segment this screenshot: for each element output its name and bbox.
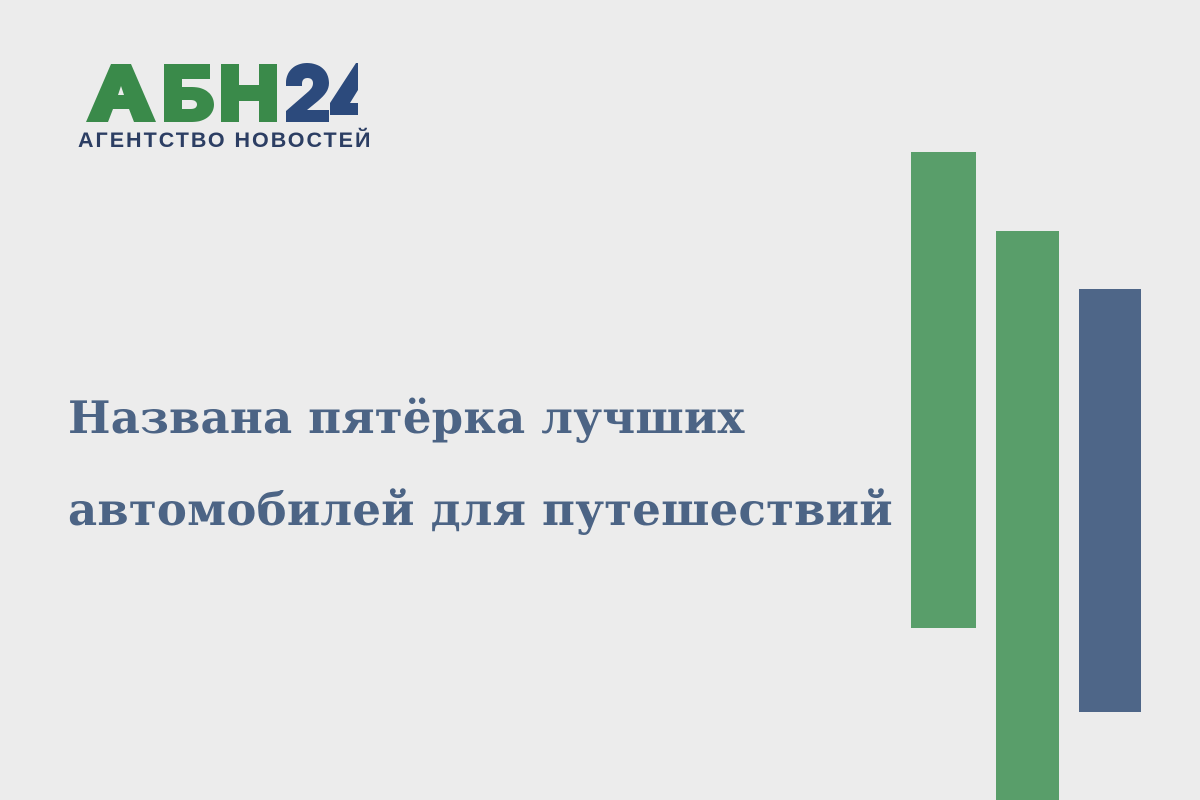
abn24-logo[interactable]: АГЕНТСТВО НОВОСТЕЙ [78,62,378,162]
logo-tagline: АГЕНТСТВО НОВОСТЕЙ [78,130,378,152]
accent-bar-3 [1079,289,1141,712]
accent-bar-2 [996,231,1059,800]
accent-bar-1 [911,152,976,628]
headline-line-2: автомобилей для путешествий [68,464,868,556]
logo-wordmark-icon [78,62,358,124]
headline-line-1: Названа пятёрка лучших [68,372,868,464]
page-title: Названа пятёрка лучших автомобилей для п… [68,372,868,556]
news-card-canvas: АГЕНТСТВО НОВОСТЕЙ Названа пятёрка лучши… [0,0,1200,800]
